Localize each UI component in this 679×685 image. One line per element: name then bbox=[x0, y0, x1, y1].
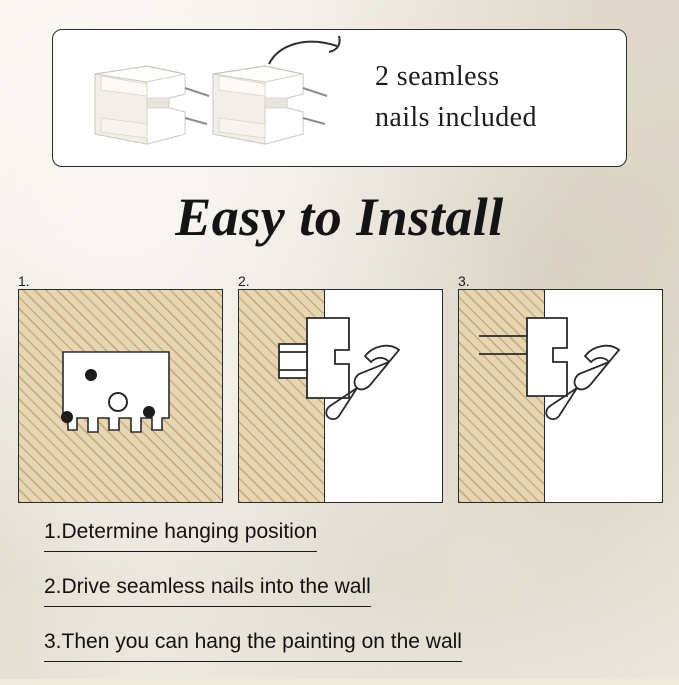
step-1-panel bbox=[18, 289, 223, 503]
curved-arrow-icon bbox=[263, 30, 353, 80]
screw-hole-dot bbox=[61, 411, 73, 423]
step-3-panel bbox=[458, 289, 663, 503]
step-3-diagram bbox=[459, 290, 662, 502]
list-item: 1.Determine hanging position bbox=[44, 520, 317, 552]
step-1: 1. bbox=[18, 273, 223, 503]
screw-hole-dot bbox=[85, 369, 97, 381]
callout-text: 2 seamless nails included bbox=[375, 57, 615, 138]
step-2-number: 2. bbox=[238, 273, 250, 289]
instruction-list: 1.Determine hanging position 2.Drive sea… bbox=[44, 520, 644, 685]
clip-left-icon bbox=[95, 66, 209, 144]
page-title: Easy to Install bbox=[0, 186, 679, 248]
step-1-diagram bbox=[19, 290, 222, 502]
callout-text-line2: nails included bbox=[375, 98, 615, 139]
step-3-number: 3. bbox=[458, 273, 470, 289]
list-item: 3.Then you can hang the painting on the … bbox=[44, 630, 462, 662]
step-3: 3. bbox=[458, 273, 663, 503]
step-1-number: 1. bbox=[18, 273, 30, 289]
callout-text-line1: 2 seamless bbox=[375, 57, 615, 98]
list-item: 2.Drive seamless nails into the wall bbox=[44, 575, 371, 607]
steps-row: 1. 2. bbox=[18, 273, 663, 503]
infographic-stage: 2 seamless nails included Easy to Instal… bbox=[0, 0, 679, 679]
seamless-nails-callout: 2 seamless nails included bbox=[52, 29, 627, 167]
step-2-panel bbox=[238, 289, 443, 503]
step-2: 2. bbox=[238, 273, 443, 503]
step-2-diagram bbox=[239, 290, 442, 502]
screw-hole-dot bbox=[143, 406, 155, 418]
